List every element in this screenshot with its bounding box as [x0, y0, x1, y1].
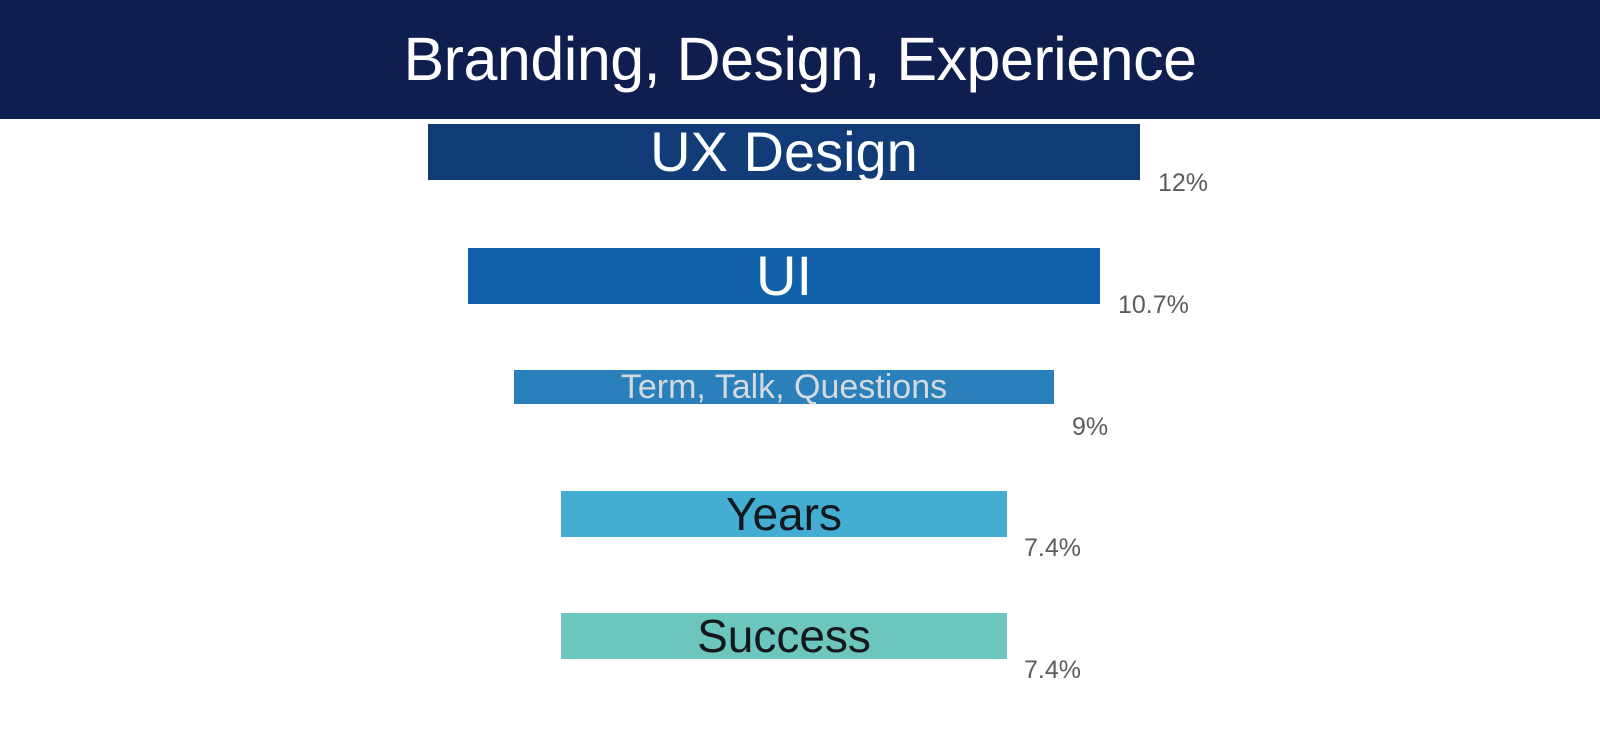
funnel-segment-label: Success: [697, 613, 871, 659]
funnel-row: UI 10.7%: [0, 248, 1600, 366]
funnel-segment-years[interactable]: Years: [561, 491, 1007, 537]
page-title: Branding, Design, Experience: [403, 29, 1196, 90]
funnel-segment-value: 9%: [1072, 415, 1108, 440]
funnel-segment-ux-design[interactable]: UX Design: [428, 124, 1140, 180]
funnel-segment-value: 12%: [1158, 171, 1208, 196]
funnel-segment-value: 7.4%: [1024, 658, 1081, 683]
funnel-row: UX Design 12%: [0, 124, 1600, 245]
funnel-row: Years 7.4%: [0, 491, 1600, 609]
funnel-chart-slide: Branding, Design, Experience UX Design 1…: [0, 0, 1600, 733]
funnel-row: Term, Talk, Questions 9%: [0, 370, 1600, 488]
header-banner: Branding, Design, Experience: [0, 0, 1600, 119]
funnel-segment-label: UI: [756, 248, 812, 304]
funnel-segment-label: Years: [726, 491, 842, 537]
funnel-segment-success[interactable]: Success: [561, 613, 1007, 659]
funnel-chart: UX Design 12% UI 10.7% Term, Talk, Quest…: [0, 119, 1600, 733]
funnel-segment-label: Term, Talk, Questions: [621, 370, 947, 404]
funnel-segment-ui[interactable]: UI: [468, 248, 1100, 304]
funnel-segment-value: 7.4%: [1024, 536, 1081, 561]
funnel-segment-value: 10.7%: [1118, 293, 1189, 318]
funnel-row: Success 7.4%: [0, 613, 1600, 733]
funnel-segment-label: UX Design: [650, 124, 918, 180]
funnel-segment-term-talk-questions[interactable]: Term, Talk, Questions: [514, 370, 1054, 404]
